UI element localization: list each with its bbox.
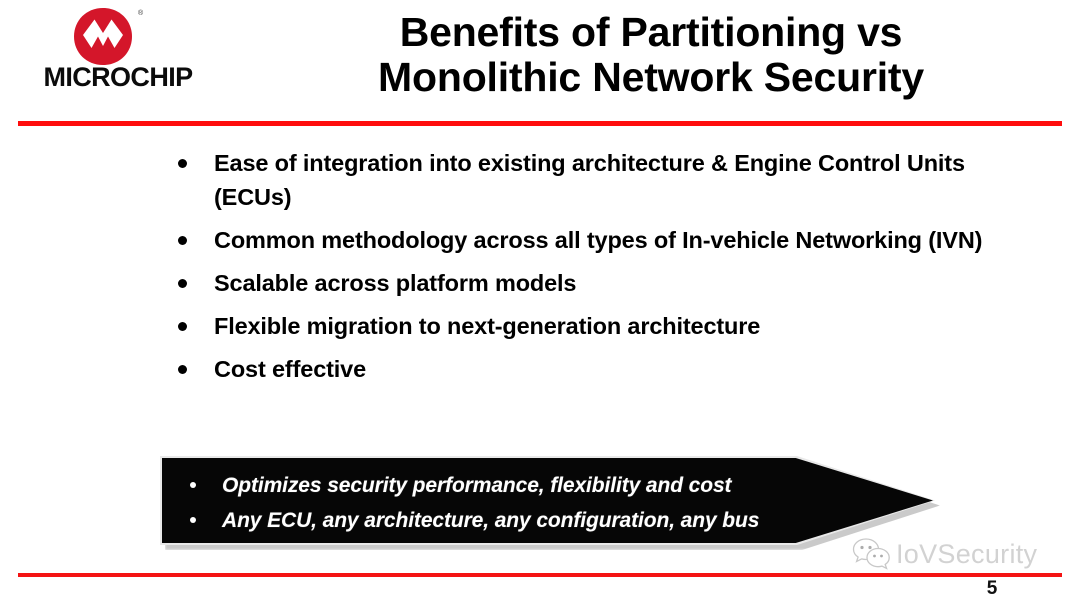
watermark-label: IoVSecurity xyxy=(896,541,1037,568)
arrow-callout: Optimizes security performance, flexibil… xyxy=(160,456,942,550)
list-item-label: Ease of integration into existing archit… xyxy=(214,146,1042,214)
bullet-dot-icon xyxy=(178,279,187,288)
watermark: IoVSecurity xyxy=(852,533,1052,575)
callout-list-item: Any ECU, any architecture, any configura… xyxy=(184,505,884,536)
wechat-bubbles-icon xyxy=(852,537,892,571)
microchip-logo-icon xyxy=(72,8,134,66)
list-item: Cost effective xyxy=(172,352,1042,386)
list-item: Ease of integration into existing archit… xyxy=(172,146,1042,214)
list-item: Flexible migration to next-generation ar… xyxy=(172,309,1042,343)
bullet-dot-icon xyxy=(190,517,196,523)
microchip-logo: ® MICROCHIP xyxy=(16,4,216,100)
list-item-label: Scalable across platform models xyxy=(214,266,1042,300)
callout-list-item: Optimizes security performance, flexibil… xyxy=(184,470,884,501)
arrow-callout-list: Optimizes security performance, flexibil… xyxy=(184,470,884,540)
list-item-label: Cost effective xyxy=(214,352,1042,386)
callout-list-item-label: Optimizes security performance, flexibil… xyxy=(222,474,731,497)
page-title-line-2: Monolithic Network Security xyxy=(236,55,1066,100)
callout-list-item-label: Any ECU, any architecture, any configura… xyxy=(222,509,759,532)
slide-root: ® MICROCHIP Benefits of Partitioning vs … xyxy=(0,0,1080,608)
microchip-wordmark: MICROCHIP xyxy=(20,64,216,91)
registered-trademark-icon: ® xyxy=(138,10,143,17)
bullet-dot-icon xyxy=(178,159,187,168)
bullet-list: Ease of integration into existing archit… xyxy=(172,146,1042,395)
page-title-line-1: Benefits of Partitioning vs xyxy=(236,10,1066,55)
list-item: Common methodology across all types of I… xyxy=(172,223,1042,257)
header-divider-rule xyxy=(18,121,1062,126)
bullet-dot-icon xyxy=(190,482,196,488)
list-item-label: Common methodology across all types of I… xyxy=(214,223,1042,257)
bullet-dot-icon xyxy=(178,365,187,374)
page-number: 5 xyxy=(962,578,1022,600)
bullet-dot-icon xyxy=(178,236,187,245)
list-item-label: Flexible migration to next-generation ar… xyxy=(214,309,1042,343)
bullet-dot-icon xyxy=(178,322,187,331)
list-item: Scalable across platform models xyxy=(172,266,1042,300)
page-title: Benefits of Partitioning vs Monolithic N… xyxy=(236,10,1066,100)
